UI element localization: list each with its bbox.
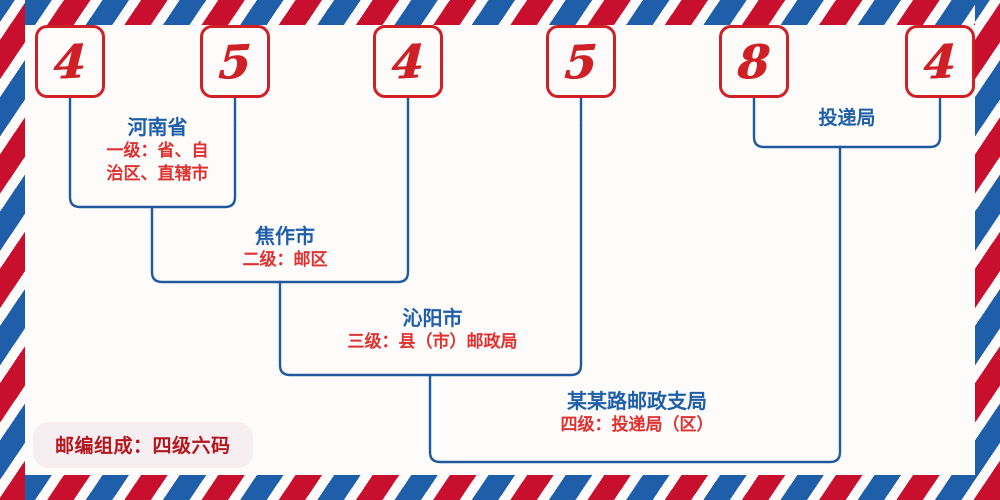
level-1-sub-line-2: 治区、直辖市 [80, 163, 235, 186]
level-2-title: 焦作市 [165, 224, 405, 249]
postcode-diagram: 4 5 4 5 8 4 投递局 河南省 一级：省、自 治区、直辖市 焦作市 二级… [0, 0, 1000, 500]
level-1-label-group: 河南省 一级：省、自 治区、直辖市 [80, 115, 235, 186]
digit-card-5[interactable]: 8 [719, 25, 789, 98]
level-3-title: 沁阳市 [285, 306, 580, 331]
level-4-label-group: 某某路邮政支局 四级：投递局（区） [437, 389, 837, 437]
level-1-sub-line-1: 一级：省、自 [80, 140, 235, 163]
digit-card-2[interactable]: 5 [200, 25, 270, 98]
level-3-label-group: 沁阳市 三级：县（市）邮政局 [285, 306, 580, 354]
digit-card-4[interactable]: 5 [546, 25, 616, 98]
delivery-office-label: 投递局 [762, 107, 932, 131]
digit-card-6[interactable]: 4 [905, 25, 975, 98]
digit-glyph-2: 5 [218, 38, 253, 86]
level-4-sub-line-1: 四级：投递局（区） [437, 414, 837, 437]
level-3-sub-line-1: 三级：县（市）邮政局 [285, 331, 580, 354]
digit-glyph-1: 4 [53, 38, 88, 86]
level-4-title: 某某路邮政支局 [437, 389, 837, 414]
digit-glyph-5: 8 [737, 38, 772, 86]
postcode-composition-badge: 邮编组成：四级六码 [33, 422, 253, 468]
delivery-office-label-group: 投递局 [762, 107, 932, 131]
digit-glyph-3: 4 [391, 38, 426, 86]
level-2-label-group: 焦作市 二级：邮区 [165, 224, 405, 272]
digit-card-3[interactable]: 4 [373, 25, 443, 98]
digit-card-1[interactable]: 4 [35, 25, 105, 98]
level-2-sub-line-1: 二级：邮区 [165, 249, 405, 272]
digit-glyph-6: 4 [923, 38, 958, 86]
level-1-title: 河南省 [80, 115, 235, 140]
digit-glyph-4: 5 [564, 38, 599, 86]
